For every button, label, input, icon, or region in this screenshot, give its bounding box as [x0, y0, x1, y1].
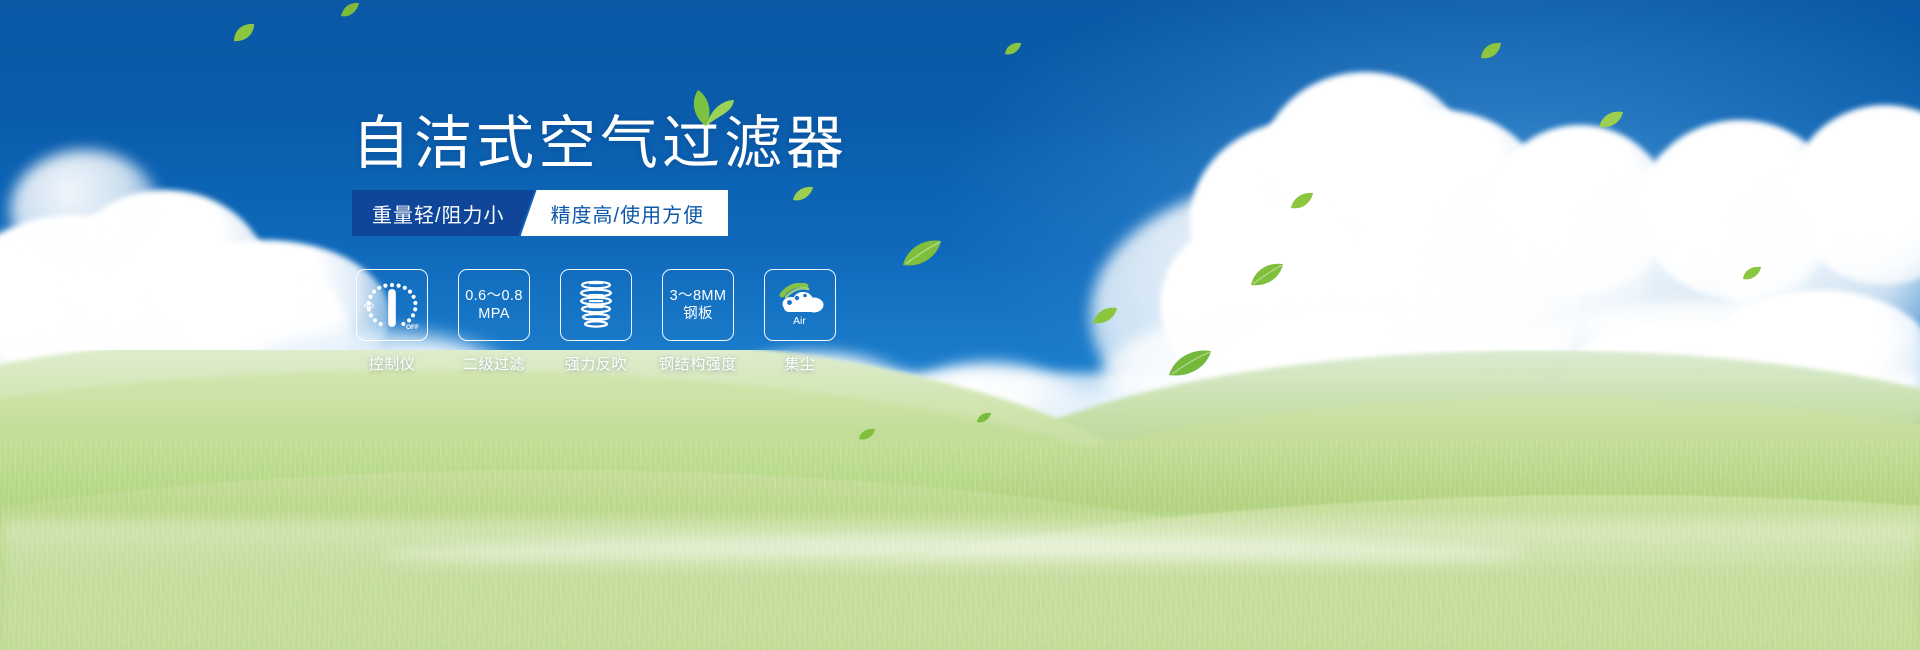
feature-item-steel-strength[interactable]: 3～8MM 钢板 钢结构强度 — [662, 269, 734, 374]
title-leaf-icon — [676, 88, 736, 128]
steel-thickness-text: 3～8MM — [670, 287, 727, 305]
pressure-unit-text: MPA — [478, 305, 510, 323]
svg-text:Air: Air — [793, 315, 806, 327]
feature-icon-box: Air — [764, 269, 836, 341]
blowback-coil-icon — [569, 279, 623, 331]
badge-lightweight-lowresistance[interactable]: 重量轻/阻力小 — [352, 190, 535, 236]
feature-label: 集尘 — [784, 353, 815, 374]
steel-plate-text: 钢板 — [683, 305, 713, 323]
feature-row: NO OFF 控制仪 0.6～0.8 MPA 二级过滤 — [356, 269, 836, 374]
page-title: 自洁式空气过滤器 — [352, 112, 848, 176]
feature-label: 二级过滤 — [463, 353, 525, 374]
feature-item-strong-blowback[interactable]: 强力反吹 — [560, 269, 632, 374]
svg-text:OFF: OFF — [406, 324, 419, 331]
feature-label: 钢结构强度 — [659, 353, 737, 374]
feature-icon-box: 3～8MM 钢板 — [662, 269, 734, 341]
feature-item-dust-collection[interactable]: Air 集尘 — [764, 269, 836, 374]
feature-icon-box — [560, 269, 632, 341]
feature-label: 控制仪 — [369, 353, 416, 374]
air-cloud-icon: Air — [772, 283, 828, 327]
svg-text:NO: NO — [364, 303, 374, 310]
feature-item-controller[interactable]: NO OFF 控制仪 — [356, 269, 428, 374]
feature-label: 强力反吹 — [565, 353, 627, 374]
feature-item-two-stage-filter[interactable]: 0.6～0.8 MPA 二级过滤 — [458, 269, 530, 374]
feature-icon-box: 0.6～0.8 MPA — [458, 269, 530, 341]
badge-row: 重量轻/阻力小 精度高/使用方便 — [352, 190, 728, 236]
feature-icon-box: NO OFF — [356, 269, 428, 341]
product-banner: 自洁式空气过滤器 重量轻/阻力小 精度高/使用方便 — [0, 0, 1920, 650]
banner-content: 自洁式空气过滤器 重量轻/阻力小 精度高/使用方便 — [0, 0, 1920, 650]
pressure-range-text: 0.6～0.8 — [465, 287, 523, 305]
badge-precision-easyuse[interactable]: 精度高/使用方便 — [521, 190, 729, 236]
control-dial-icon: NO OFF — [362, 277, 422, 333]
